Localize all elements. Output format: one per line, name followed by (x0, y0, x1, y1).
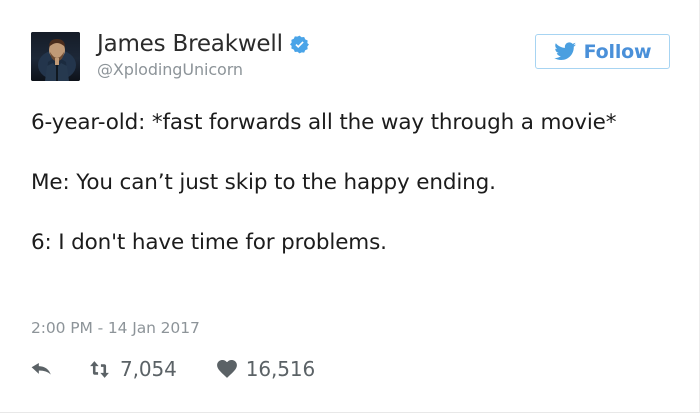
tweet-actions: 7,054 16,516 (31, 354, 315, 384)
tweet-paragraph: 6-year-old: *fast forwards all the way t… (31, 108, 635, 138)
follow-button-label: Follow (584, 41, 652, 63)
tweet-timestamp: 2:00 PM - 14 Jan 2017 (31, 318, 200, 338)
retweet-action[interactable]: 7,054 (88, 357, 177, 381)
heart-icon (217, 360, 237, 379)
avatar[interactable] (31, 32, 80, 81)
author-identity: James Breakwell @XplodingUnicorn (97, 29, 309, 80)
retweet-icon (88, 360, 111, 379)
display-name: James Breakwell (97, 31, 283, 58)
tweet-header: James Breakwell @XplodingUnicorn Follow (31, 32, 670, 82)
tweet-paragraph: 6: I don't have time for problems. (31, 228, 635, 258)
author-handle: @XplodingUnicorn (97, 60, 309, 80)
name-row: James Breakwell (97, 29, 309, 59)
avatar-image (31, 32, 80, 81)
tweet-paragraph: Me: You can’t just skip to the happy end… (31, 168, 635, 198)
retweet-count: 7,054 (120, 357, 177, 381)
tweet-text: 6-year-old: *fast forwards all the way t… (31, 108, 635, 258)
tweet-card: James Breakwell @XplodingUnicorn Follow … (0, 0, 700, 413)
follow-button[interactable]: Follow (535, 34, 670, 69)
like-action[interactable]: 16,516 (217, 357, 315, 381)
twitter-bird-icon (554, 42, 576, 61)
verified-badge-icon (290, 35, 309, 54)
reply-arrow-icon (31, 360, 52, 379)
reply-action[interactable] (31, 360, 52, 379)
like-count: 16,516 (246, 357, 315, 381)
